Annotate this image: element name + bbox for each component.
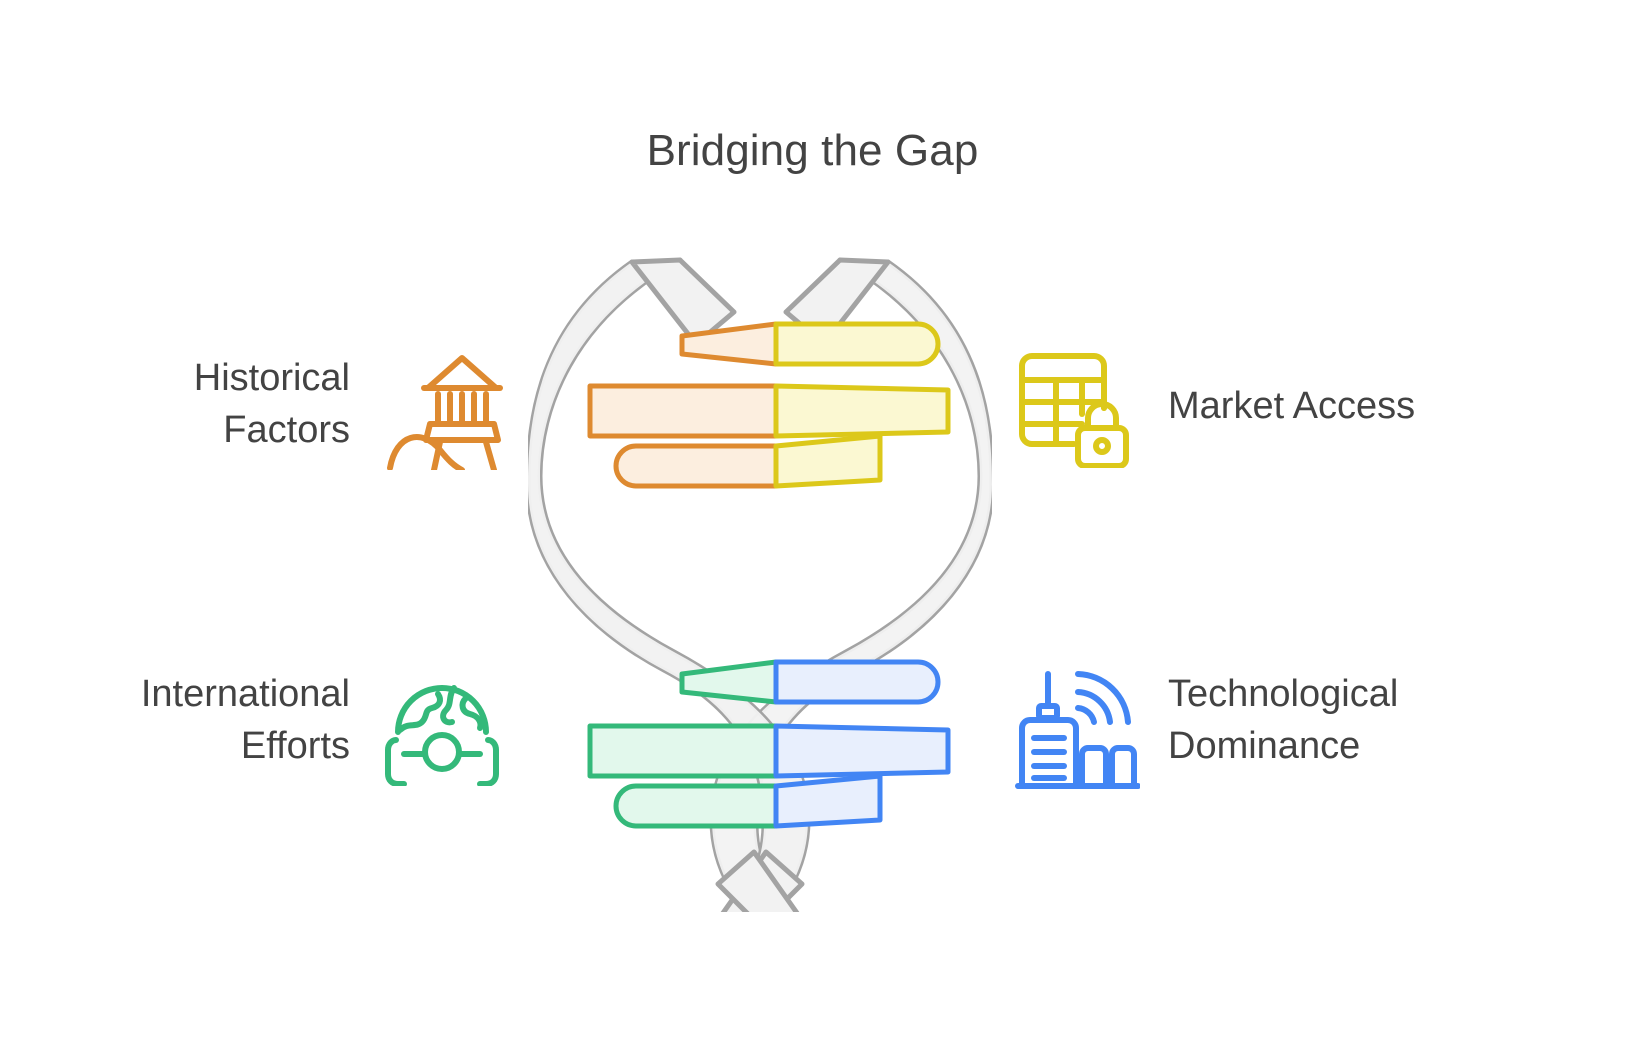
node-label-technological-dominance: Technological Dominance (1168, 668, 1588, 772)
table-lock-icon (1008, 346, 1136, 468)
classical-temple-monument-icon (386, 344, 506, 470)
globe-person-icon (382, 666, 502, 786)
helix-rungs-bottom (590, 662, 948, 826)
diagram-canvas: Bridging the Gap (0, 0, 1625, 1048)
helix-rungs-top (590, 324, 948, 486)
buildings-signal-icon (1012, 664, 1140, 792)
node-label-international-efforts: International Efforts (40, 668, 350, 772)
dna-helix-graphic (528, 240, 992, 912)
page-title: Bridging the Gap (0, 122, 1625, 180)
node-label-historical-factors: Historical Factors (60, 352, 350, 456)
node-label-market-access: Market Access (1168, 380, 1588, 432)
